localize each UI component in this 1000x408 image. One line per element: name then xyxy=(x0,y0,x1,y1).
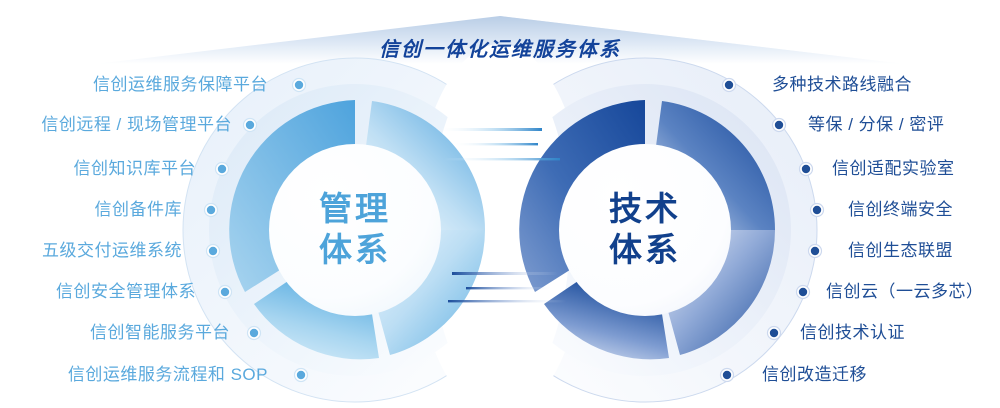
right-connector-dot-2[interactable] xyxy=(802,165,810,173)
left-connector-dot-0[interactable] xyxy=(295,81,303,89)
left-connector-dot-3[interactable] xyxy=(207,206,215,214)
right-connector-dot-4[interactable] xyxy=(811,247,819,255)
right-connector-dot-5[interactable] xyxy=(799,288,807,296)
infographic-canvas: 信创一体化运维服务体系 管理 体系 技术 体系 信创运维服务保障平台信创远程 /… xyxy=(0,0,1000,408)
left-connector-dot-7[interactable] xyxy=(297,371,305,379)
right-connector-dot-1[interactable] xyxy=(775,121,783,129)
right-connector-dot-7[interactable] xyxy=(723,371,731,379)
left-connector-dot-6[interactable] xyxy=(250,329,258,337)
right-connector-dot-3[interactable] xyxy=(813,206,821,214)
left-connector-dot-2[interactable] xyxy=(218,165,226,173)
infographic-artwork xyxy=(0,0,1000,408)
right-connector-dot-6[interactable] xyxy=(770,329,778,337)
left-connector-dot-4[interactable] xyxy=(209,247,217,255)
left-connector-dot-5[interactable] xyxy=(221,288,229,296)
right-connector-dot-0[interactable] xyxy=(725,81,733,89)
left-connector-dot-1[interactable] xyxy=(246,121,254,129)
